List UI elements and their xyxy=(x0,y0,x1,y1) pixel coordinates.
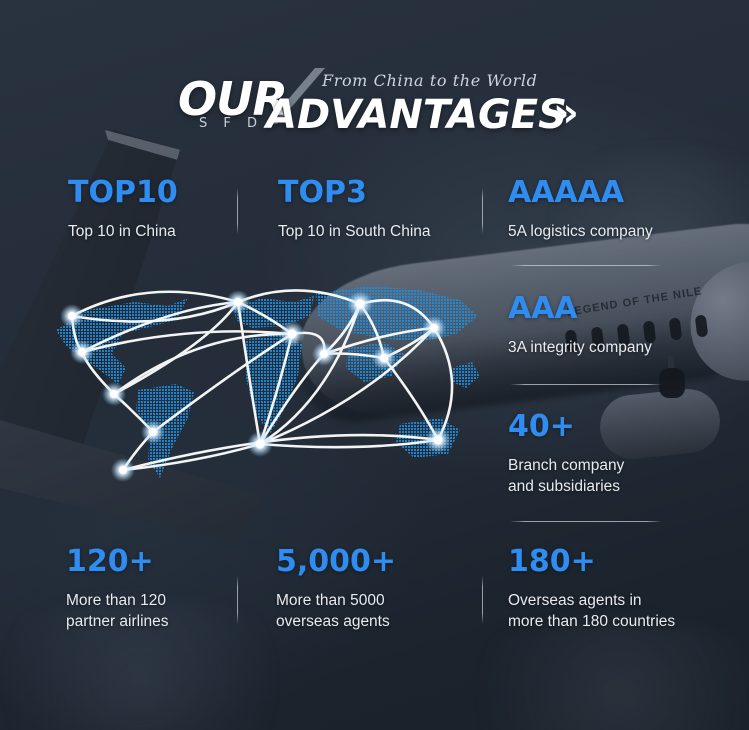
stat-description: Overseas agents in more than 180 countri… xyxy=(508,590,743,633)
stat-top3-south-china: TOP3 Top 10 in South China xyxy=(278,178,478,242)
world-map-svg xyxy=(48,272,488,512)
stat-number: 5,000+ xyxy=(276,547,466,577)
divider-horizontal xyxy=(510,265,662,266)
divider-horizontal xyxy=(510,384,662,385)
header-tagline: From China to the World xyxy=(322,71,537,90)
header-banner: OUR S F D From China to the World ADVANT… xyxy=(0,0,749,150)
stat-branch-companies: 40+ Branch company and subsidiaries xyxy=(508,412,738,498)
double-chevron-right-icon: » xyxy=(553,93,579,133)
divider-horizontal xyxy=(510,521,662,522)
cloud-haze xyxy=(430,620,749,730)
infographic-canvas: LEGEND OF THE NILE xyxy=(0,0,749,730)
stat-number: 120+ xyxy=(66,547,226,577)
stat-description: Top 10 in South China xyxy=(278,221,478,242)
stat-3a-integrity: AAA 3A integrity company xyxy=(508,294,738,358)
stat-description: 3A integrity company xyxy=(508,337,738,358)
divider-vertical xyxy=(482,576,483,624)
stat-number: AAA xyxy=(508,294,738,324)
stat-top10-china: TOP10 Top 10 in China xyxy=(68,178,218,242)
divider-vertical xyxy=(482,188,483,234)
stat-number: 40+ xyxy=(508,412,738,442)
stat-number: AAAAA xyxy=(508,178,738,208)
divider-vertical xyxy=(237,576,238,624)
stat-number: 180+ xyxy=(508,547,743,577)
stat-5a-logistics: AAAAA 5A logistics company xyxy=(508,178,738,242)
stat-description: More than 120 partner airlines xyxy=(66,590,226,633)
page-title: ADVANTAGES xyxy=(266,92,567,138)
brand-sub-text: S F D xyxy=(199,116,263,131)
stat-partner-airlines: 120+ More than 120 partner airlines xyxy=(66,547,226,633)
stat-description: Top 10 in China xyxy=(68,221,218,242)
stat-description: Branch company and subsidiaries xyxy=(508,455,738,498)
stat-number: TOP10 xyxy=(68,178,218,208)
stat-description: More than 5000 overseas agents xyxy=(276,590,466,633)
stat-countries-covered: 180+ Overseas agents in more than 180 co… xyxy=(508,547,743,633)
aircraft-landing-gear xyxy=(659,368,685,398)
world-map-network-graphic xyxy=(48,272,488,512)
stat-description: 5A logistics company xyxy=(508,221,738,242)
stat-number: TOP3 xyxy=(278,178,478,208)
divider-vertical xyxy=(237,188,238,234)
stat-overseas-agents: 5,000+ More than 5000 overseas agents xyxy=(276,547,466,633)
